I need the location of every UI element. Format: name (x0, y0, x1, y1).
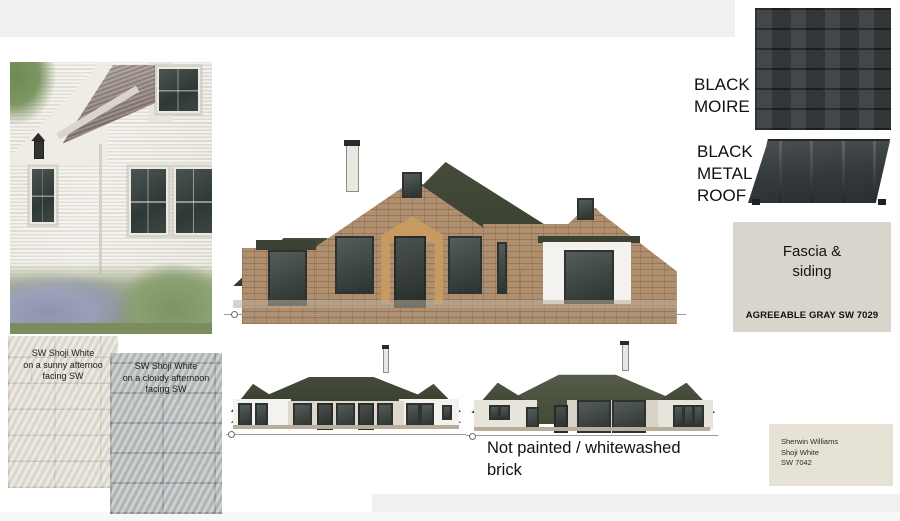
metal-seam (842, 141, 845, 203)
black-metal-roof-label: BLACK METAL ROOF (697, 141, 753, 207)
fascia-siding-swatch: Fascia & siding AGREEABLE GRAY SW 7029 (733, 222, 891, 332)
metal-foot-left (752, 199, 760, 205)
brick-sunny-swatch: SW Shoji White on a sunny afternoo facin… (8, 336, 118, 488)
shoji-color-code: SW 7042 (781, 458, 838, 469)
window-left-b (255, 403, 269, 426)
brick-sunny-label: SW Shoji White on a sunny afternoo facin… (8, 348, 118, 383)
ground-line (224, 314, 686, 315)
shingle-swatch (755, 8, 891, 130)
black-metal-line2: METAL (697, 163, 753, 185)
foundation-base (233, 425, 459, 429)
background-band-bottom (372, 494, 900, 514)
window-right-c (442, 405, 452, 420)
chimney (346, 142, 359, 192)
photo-tree-branch (10, 62, 58, 127)
foundation-base (233, 300, 677, 308)
window-right-c (693, 405, 705, 429)
lantern-icon (31, 133, 45, 157)
chimney-cap (382, 345, 389, 349)
photo-downspout (99, 144, 102, 275)
fascia-color-code: AGREEABLE GRAY SW 7029 (733, 310, 891, 321)
metal-seam (779, 141, 782, 203)
ground-line-marker (228, 431, 235, 438)
black-moire-line2: MOIRE (694, 96, 750, 118)
foundation-base (474, 427, 711, 431)
brick-sunny-line2: on a sunny afternoo (8, 360, 118, 372)
gable-window-right (577, 198, 594, 220)
photo-window-small (28, 165, 58, 226)
window-left-a (238, 403, 252, 426)
white-painted-brick-house-photo (10, 62, 212, 334)
photo-lawn (10, 323, 212, 334)
front-elevation-rendering (224, 128, 686, 328)
black-moire-label: BLACK MOIRE (694, 74, 750, 118)
ground-line-marker (231, 311, 238, 318)
brick-cloudy-line3: facing SW (110, 384, 222, 396)
brick-sunny-line1: SW Shoji White (8, 348, 118, 360)
photo-window-left (127, 165, 169, 237)
fascia-title-line2: siding (733, 262, 891, 282)
materials-mood-board: SW Shoji White on a sunny afternoo facin… (0, 0, 900, 521)
brick-cloudy-line2: on a cloudy afternoon (110, 373, 222, 385)
metal-panel (748, 141, 890, 203)
photo-window-upper (155, 65, 201, 115)
rear-elevation-rendering-left (226, 332, 466, 440)
porch-roof-left (256, 240, 316, 250)
rear-elevation-rendering-right (466, 332, 718, 442)
shingle-tonal-variation (755, 8, 891, 130)
ground-line-marker (469, 433, 476, 440)
gable-window-center (402, 172, 423, 198)
fascia-title-line1: Fascia & (733, 242, 891, 262)
photo-window-right (172, 165, 212, 237)
black-metal-line3: ROOF (697, 185, 753, 207)
metal-seam (810, 141, 813, 203)
shoji-brand: Sherwin Williams (781, 437, 838, 448)
chimney (383, 347, 389, 373)
brick-cloudy-swatch: SW Shoji White on a cloudy afternoon fac… (110, 353, 222, 514)
metal-seam (873, 141, 876, 203)
window-right-b (420, 403, 434, 426)
black-moire-line1: BLACK (694, 74, 750, 96)
shoji-white-card: Sherwin Williams Shoji White SW 7042 (769, 424, 893, 486)
chimney (622, 343, 629, 371)
window-left-wing (268, 250, 307, 306)
window-right-a (406, 403, 420, 426)
background-band-top (0, 0, 735, 37)
window-front-right (448, 236, 482, 294)
brick-cloudy-label: SW Shoji White on a cloudy afternoon fac… (110, 361, 222, 396)
shoji-white-text: Sherwin Williams Shoji White SW 7042 (781, 437, 838, 469)
photo-bush (115, 263, 212, 328)
window-bay (564, 250, 614, 304)
window-front-left (335, 236, 374, 294)
ground-line (226, 434, 466, 435)
window-slit (497, 242, 507, 294)
front-door (394, 236, 426, 308)
metal-foot-right (878, 199, 886, 205)
black-metal-line1: BLACK (697, 141, 753, 163)
window-left-b (499, 405, 511, 420)
shoji-color-name: Shoji White (781, 448, 838, 459)
fascia-title: Fascia & siding (733, 242, 891, 282)
brick-cloudy-line1: SW Shoji White (110, 361, 222, 373)
metal-roof-swatch (740, 133, 897, 211)
chimney-cap (344, 140, 360, 146)
brick-sunny-line3: facing SW (8, 371, 118, 383)
brick-note: Not painted / whitewashed brick (487, 437, 717, 481)
chimney-cap (620, 341, 629, 345)
